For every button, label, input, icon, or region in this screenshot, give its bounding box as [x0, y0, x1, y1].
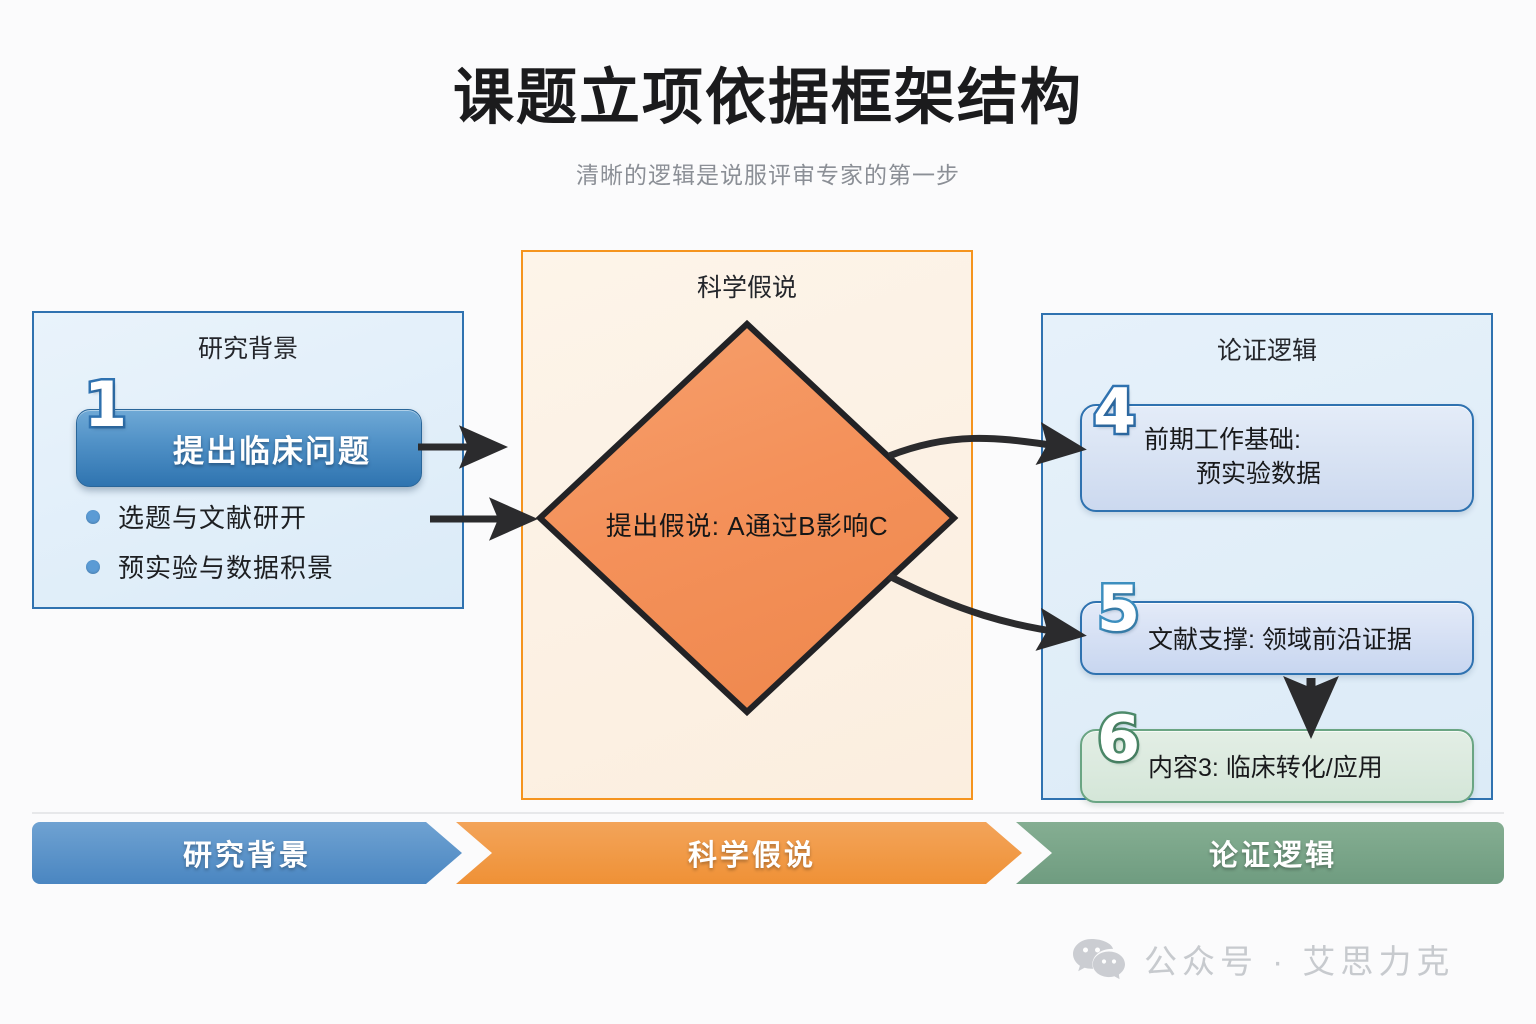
- watermark-text: 公众号 · 艾思力克: [1144, 935, 1454, 983]
- process-ribbon: 研究背景 科学假说 论证逻辑: [32, 822, 1504, 884]
- list-item: 预实验与数据积景: [86, 548, 426, 585]
- clinical-question-button[interactable]: 提出临床问题: [76, 409, 422, 487]
- section-divider: [32, 812, 1504, 814]
- card-preliminary-work[interactable]: 前期工作基础: 预实验数据: [1080, 404, 1474, 512]
- bullet-text: 选题与文献研开: [118, 498, 307, 535]
- ribbon-step-3[interactable]: 论证逻辑: [1016, 822, 1504, 884]
- ribbon-step-3-label: 论证逻辑: [1183, 832, 1337, 874]
- card-4-line2: 预实验数据: [1144, 458, 1321, 492]
- ribbon-step-2[interactable]: 科学假说: [456, 822, 1022, 884]
- panel-center-heading: 科学假说: [523, 268, 971, 304]
- step-badge-6: 6: [1097, 708, 1140, 770]
- page-title: 课题立项依据框架结构: [0, 62, 1536, 132]
- clinical-question-label: 提出临床问题: [127, 426, 371, 471]
- list-item: 选题与文献研开: [86, 498, 426, 535]
- footer-watermark: 公众号 · 艾思力克: [1072, 935, 1454, 983]
- panel-left-heading: 研究背景: [34, 329, 462, 365]
- ribbon-step-2-label: 科学假说: [662, 832, 816, 874]
- step-badge-4: 4: [1093, 381, 1136, 443]
- ribbon-step-1-label: 研究背景: [183, 832, 311, 874]
- bullet-dot-icon: [86, 560, 100, 574]
- ribbon-step-1[interactable]: 研究背景: [32, 822, 462, 884]
- step-badge-5: 5: [1097, 578, 1140, 640]
- panel-right-heading: 论证逻辑: [1043, 331, 1491, 367]
- hypothesis-diamond: 提出假说: A通过B影响C: [534, 318, 960, 718]
- poster-canvas: 课题立项依据框架结构 清晰的逻辑是说服评审专家的第一步 研究背景 1 提出临床问…: [0, 0, 1536, 1024]
- card-4-line1: 前期工作基础:: [1144, 424, 1321, 458]
- bullet-dot-icon: [86, 510, 100, 524]
- diamond-shape-icon: [534, 318, 960, 718]
- page-subtitle: 清晰的逻辑是说服评审专家的第一步: [0, 156, 1536, 190]
- step-badge-1: 1: [84, 374, 127, 436]
- bullet-text: 预实验与数据积景: [118, 548, 334, 585]
- research-background-bullets: 选题与文献研开 预实验与数据积景: [86, 498, 426, 598]
- wechat-icon: [1072, 937, 1126, 981]
